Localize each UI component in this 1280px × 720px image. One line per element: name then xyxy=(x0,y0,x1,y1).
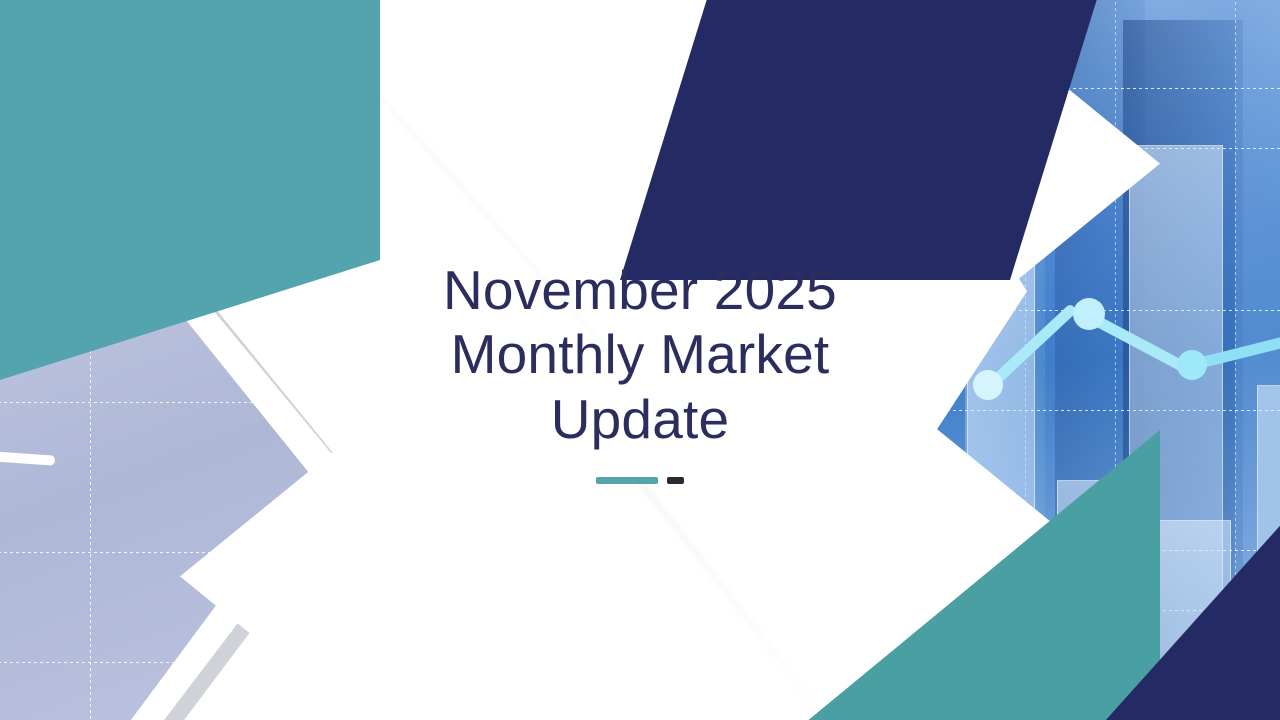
navy-shape-top xyxy=(620,0,1140,280)
right-cyan-node xyxy=(973,370,1003,400)
teal-shape-top-left xyxy=(0,0,380,380)
slide-title: November 2025 Monthly Market Update xyxy=(330,258,950,451)
navy-shape-bottom-right xyxy=(1030,430,1280,720)
right-cyan-node xyxy=(1177,350,1207,380)
right-cyan-node xyxy=(1073,298,1105,330)
title-divider xyxy=(330,477,950,484)
left-gridline-h xyxy=(0,662,326,663)
divider-bar-primary xyxy=(596,477,658,484)
right-gridline-h xyxy=(905,410,1280,411)
divider-bar-secondary xyxy=(667,477,684,484)
title-block: November 2025 Monthly Market Update xyxy=(330,258,950,484)
presentation-slide: November 2025 Monthly Market Update xyxy=(0,0,1280,720)
left-white-segment xyxy=(0,440,55,465)
